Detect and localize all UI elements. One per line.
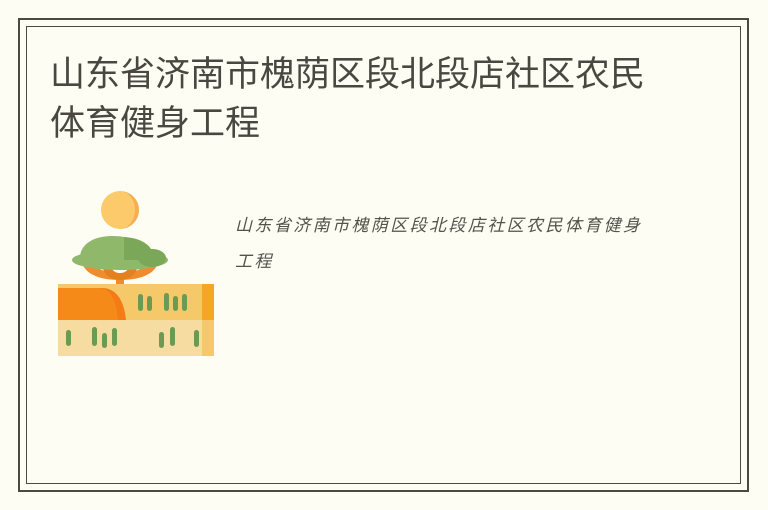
card-content: 山东省济南市槐荫区段北段店社区农民体育健身工程	[50, 50, 718, 460]
caption-block: 山东省济南市槐荫区段北段店社区农民体育健身工程	[235, 208, 655, 280]
caption-text: 山东省济南市槐荫区段北段店社区农民体育健身工程	[235, 208, 655, 280]
article-card: 山东省济南市槐荫区段北段店社区农民体育健身工程	[0, 0, 768, 510]
sun-shape	[101, 191, 139, 229]
page-title: 山东省济南市槐荫区段北段店社区农民体育健身工程	[50, 50, 645, 148]
tree-canopy-shape	[72, 236, 168, 270]
ground-shape	[58, 284, 214, 356]
illustration-and-caption-row: 山东省济南市槐荫区段北段店社区农民体育健身工程	[50, 184, 718, 358]
savanna-landscape-icon	[54, 184, 218, 358]
